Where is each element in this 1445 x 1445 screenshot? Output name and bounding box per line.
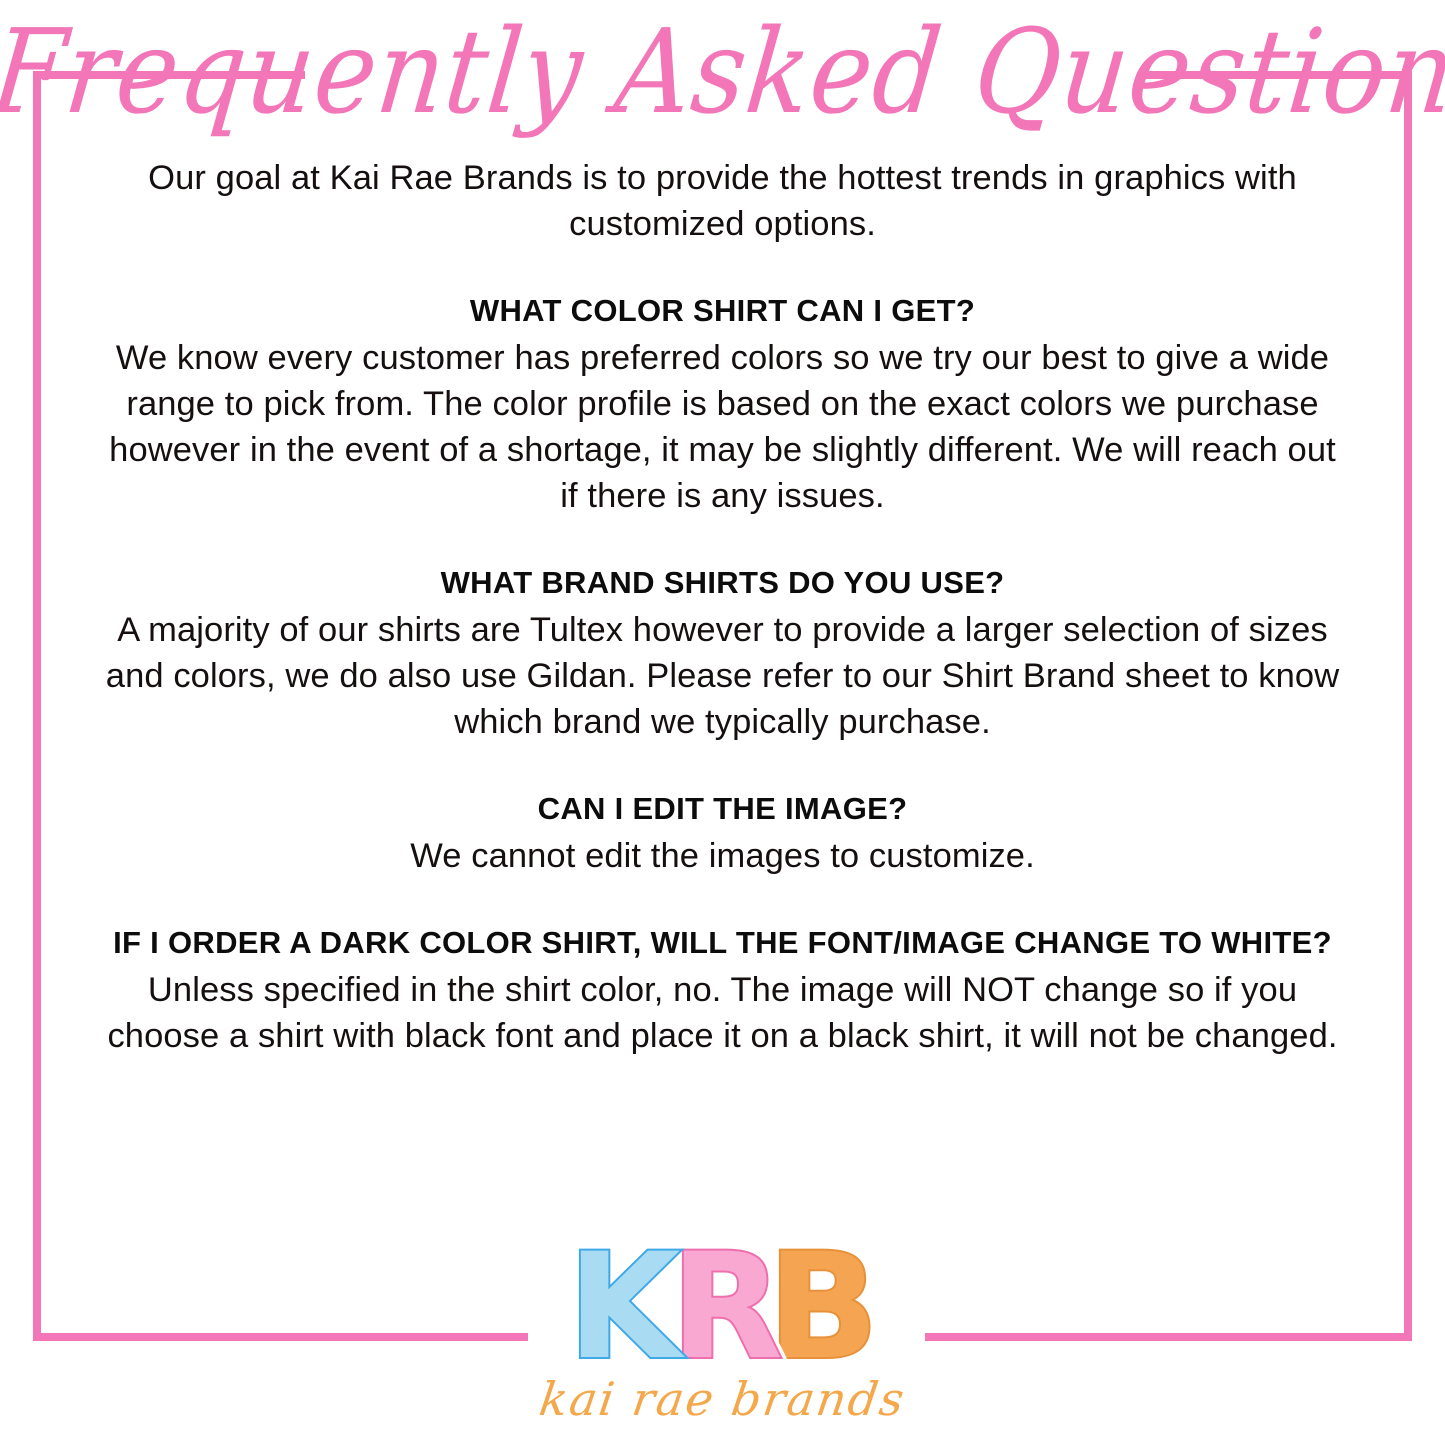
faq-body: We cannot edit the images to customize. [100,833,1345,879]
faq-content: Our goal at Kai Rae Brands is to provide… [100,155,1345,1059]
intro-paragraph: Our goal at Kai Rae Brands is to provide… [120,155,1325,247]
faq-section-brand: WHAT BRAND SHIRTS DO YOU USE? A majority… [100,563,1345,745]
frame-left-segment [33,71,41,1341]
faq-section-dark-shirt: IF I ORDER A DARK COLOR SHIRT, WILL THE … [100,923,1345,1059]
brand-logo: B B B R R R K K kai rae brands [0,1243,1445,1426]
krb-monogram: B B B R R R K K [568,1243,878,1371]
faq-body: Unless specified in the shirt color, no.… [100,967,1345,1059]
faq-heading: WHAT COLOR SHIRT CAN I GET? [100,291,1345,331]
faq-section-edit: CAN I EDIT THE IMAGE? We cannot edit the… [100,789,1345,879]
logo-tagline: kai rae brands [536,1372,909,1426]
faq-section-color: WHAT COLOR SHIRT CAN I GET? We know ever… [100,291,1345,519]
faq-body: We know every customer has preferred col… [100,335,1345,519]
frame-right-segment [1404,71,1412,1341]
logo-letter-b-fill: B [768,1243,873,1371]
faq-heading: IF I ORDER A DARK COLOR SHIRT, WILL THE … [100,923,1345,963]
faq-heading: CAN I EDIT THE IMAGE? [100,789,1345,829]
logo-letter-r-fill: R [671,1243,777,1371]
logo-letter-k-fill: K [568,1243,675,1371]
faq-heading: WHAT BRAND SHIRTS DO YOU USE? [100,563,1345,603]
faq-graphic: Frequently Asked Questions Our goal at K… [0,0,1445,1445]
faq-body: A majority of our shirts are Tultex howe… [100,607,1345,745]
page-title: Frequently Asked Questions [0,8,1445,136]
